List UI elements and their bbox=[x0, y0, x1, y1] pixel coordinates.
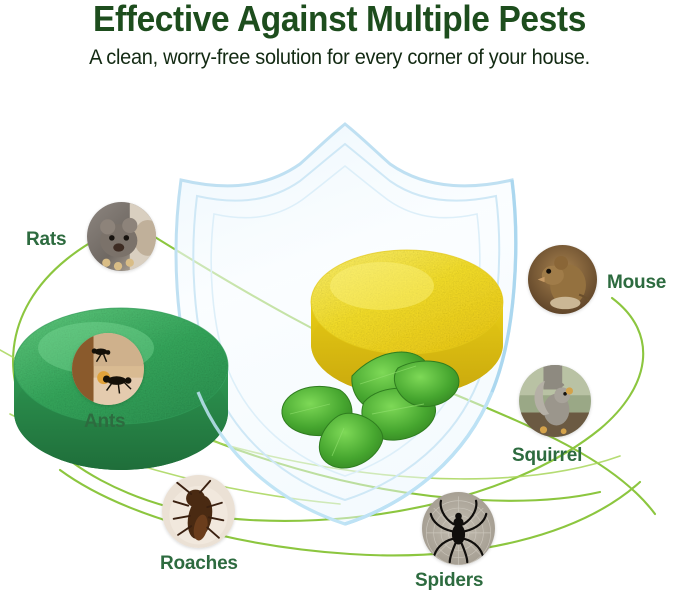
pest-label-ants: Ants bbox=[84, 411, 125, 433]
rat-photo-icon[interactable] bbox=[87, 202, 156, 271]
page-title: Effective Against Multiple Pests bbox=[24, 0, 655, 40]
pest-orbit-scene: Rats Ants Roaches Spiders bbox=[0, 84, 679, 595]
pest-label-spiders: Spiders bbox=[415, 570, 483, 592]
pest-nodes: Rats Ants Roaches Spiders bbox=[0, 84, 679, 595]
cockroach-photo-icon[interactable] bbox=[162, 475, 235, 548]
pest-label-squirrel: Squirrel bbox=[512, 445, 582, 467]
pest-label-roaches: Roaches bbox=[160, 553, 238, 575]
squirrel-photo-icon[interactable] bbox=[519, 365, 591, 437]
product-feature-graphic: Effective Against Multiple Pests A clean… bbox=[0, 0, 679, 595]
pest-label-rats: Rats bbox=[26, 229, 66, 251]
mouse-photo-icon[interactable] bbox=[528, 245, 597, 314]
page-subtitle: A clean, worry-free solution for every c… bbox=[17, 46, 662, 70]
ant-photo-icon[interactable] bbox=[72, 333, 144, 405]
pest-label-mouse: Mouse bbox=[607, 272, 666, 294]
spider-photo-icon[interactable] bbox=[422, 492, 495, 565]
